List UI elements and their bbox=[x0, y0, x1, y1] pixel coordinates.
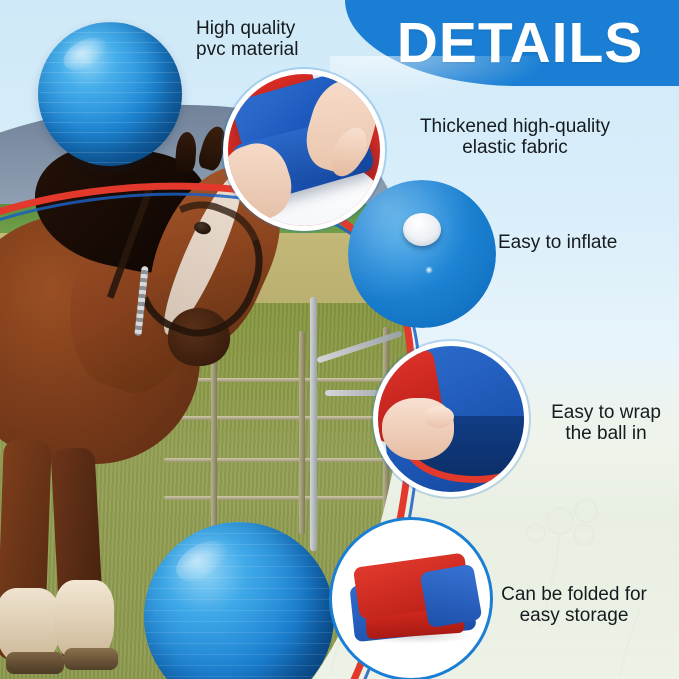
feature-label-line1: Easy to wrap bbox=[533, 402, 679, 423]
feature-label-line1: Can be folded for bbox=[474, 584, 674, 605]
exercise-ball-icon bbox=[38, 22, 182, 166]
inflation-valve-icon bbox=[348, 180, 496, 328]
feature-label-pvc-material: High quality pvc material bbox=[196, 18, 346, 61]
feature-label-easy-inflate: Easy to inflate bbox=[498, 232, 673, 253]
feature-label-easy-wrap: Easy to wrap the ball in bbox=[533, 402, 679, 445]
feature-label-line2: easy storage bbox=[474, 605, 674, 626]
feature-label-easy-storage: Can be folded for easy storage bbox=[474, 584, 674, 627]
feature-label-line2: the ball in bbox=[533, 423, 679, 444]
folded-fabric-icon bbox=[336, 524, 486, 674]
open-cover-icon bbox=[378, 346, 524, 492]
feature-label-line1: High quality bbox=[196, 18, 346, 39]
details-banner-text-wrap: DETAILS bbox=[345, 0, 679, 86]
feature-label-line2: pvc material bbox=[196, 39, 346, 60]
feature-label-line2: elastic fabric bbox=[380, 137, 650, 158]
page-title: DETAILS bbox=[397, 15, 644, 72]
feature-label-line1: Thickened high-quality bbox=[380, 116, 650, 137]
stretch-fabric-icon bbox=[228, 74, 380, 226]
product-detail-image: DETAILS High bbox=[0, 0, 679, 679]
feature-label-elastic-fabric: Thickened high-quality elastic fabric bbox=[380, 116, 650, 159]
feature-label-line1: Easy to inflate bbox=[498, 232, 673, 253]
